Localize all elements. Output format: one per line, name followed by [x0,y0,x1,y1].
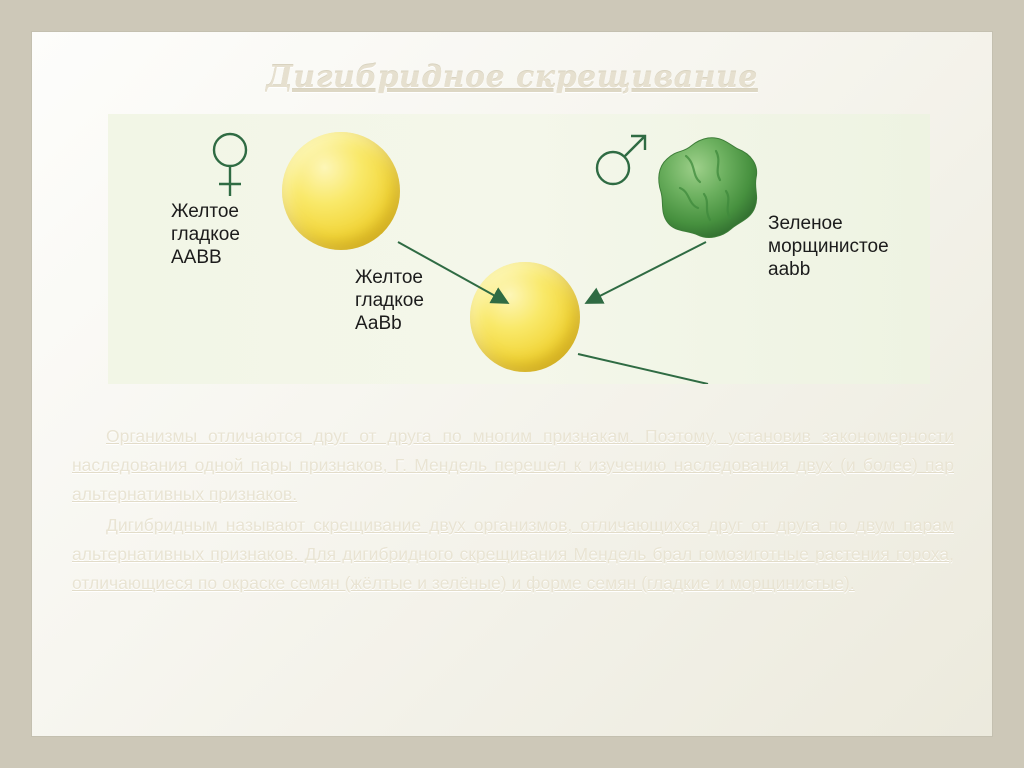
dihybrid-cross-diagram: Желтое гладкое ААВВ Желтое гладкое АаВb … [108,114,930,384]
paragraph-1: Организмы отличаются друг от друга по мн… [72,422,954,509]
paragraph-2: Дигибридным называют скрещивание двух ор… [72,511,954,598]
arrow-offspring-to-f1 [578,354,708,384]
offspring-label: Желтое гладкое АаВb [355,266,424,335]
slide-canvas: Дигибридное скрещивание [32,32,992,736]
parent1-label: Желтое гладкое ААВВ [171,200,240,269]
parent2-label: Зеленое морщинистое aabb [768,212,889,281]
arrow-parent2-to-offspring [588,242,706,302]
page-title: Дигибридное скрещивание [32,60,992,95]
body-text-block: Организмы отличаются друг от друга по мн… [72,422,954,600]
